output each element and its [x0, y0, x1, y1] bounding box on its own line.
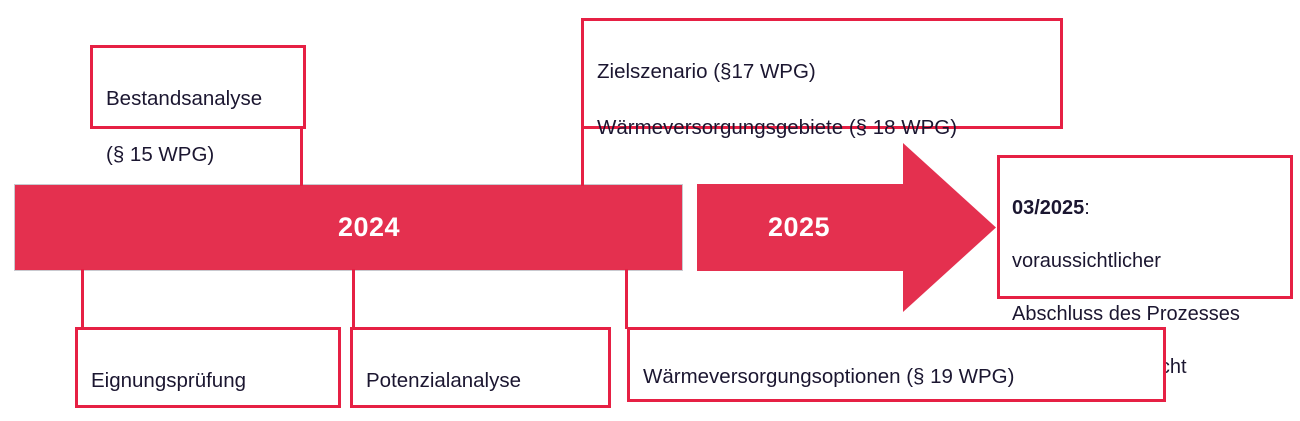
callout-abschluss-line-1: 03/2025: [1012, 195, 1278, 222]
callout-zielszenario: Zielszenario (§17 WPG) Wärmeversorgungsg… [581, 18, 1063, 129]
timeline-label-2024: 2024 [338, 214, 400, 241]
callout-waermeoptionen-line-1: Wärmeversorgungsoptionen (§ 19 WPG) [643, 363, 1150, 391]
callout-bestandsanalyse-line-2: (§ 15 WPG) [106, 141, 290, 169]
leader-line-waermeoptionen [625, 269, 628, 329]
leader-line-eignungspruefung [81, 269, 84, 329]
callout-zielszenario-line-1: Zielszenario (§17 WPG) [597, 58, 1047, 86]
timeline-label-2025: 2025 [768, 214, 830, 241]
callout-abschluss-line-3: Abschluss des Prozesses [1012, 301, 1278, 328]
callout-eignungspruefung: Eignungsprüfung nach (§ 14 WPG) [75, 327, 341, 408]
leader-line-bestandsanalyse [300, 128, 303, 186]
leader-line-zielszenario [581, 128, 584, 186]
callout-bestandsanalyse: Bestandsanalyse (§ 15 WPG) [90, 45, 306, 129]
callout-abschluss: 03/2025: voraussichtlicher Abschluss des… [997, 155, 1293, 299]
callout-abschluss-line-2: voraussichtlicher [1012, 248, 1278, 275]
callout-abschluss-date: 03/2025 [1012, 197, 1084, 219]
timeline-diagram: 2024 2025 Bestandsanalyse (§ 15 WPG) Zie… [0, 0, 1300, 421]
callout-abschluss-colon: : [1084, 197, 1090, 219]
callout-bestandsanalyse-line-1: Bestandsanalyse [106, 85, 290, 113]
callout-potenzialanalyse-line-1: Potenzialanalyse [366, 367, 595, 395]
leader-line-potenzialanalyse [352, 269, 355, 329]
callout-zielszenario-line-2: Wärmeversorgungsgebiete (§ 18 WPG) [597, 114, 1047, 142]
callout-potenzialanalyse: Potenzialanalyse (§ 16 WPG) [350, 327, 611, 408]
callout-eignungspruefung-line-1: Eignungsprüfung [91, 367, 325, 395]
callout-waermeoptionen: Wärmeversorgungsoptionen (§ 19 WPG) Umse… [627, 327, 1166, 402]
